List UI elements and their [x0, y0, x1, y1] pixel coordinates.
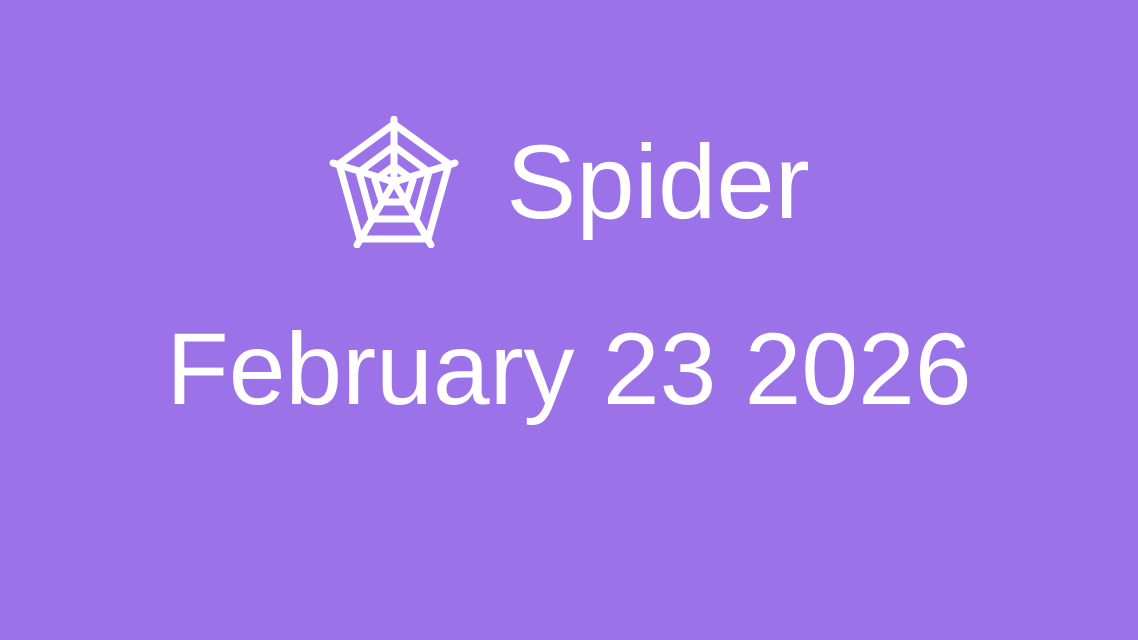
- game-title: Spider: [506, 130, 810, 235]
- splash-date: February 23 2026: [0, 318, 1138, 420]
- splash-screen: Spider February 23 2026: [0, 0, 1138, 640]
- spider-web-icon: [328, 116, 460, 248]
- title-row: Spider: [0, 108, 1138, 256]
